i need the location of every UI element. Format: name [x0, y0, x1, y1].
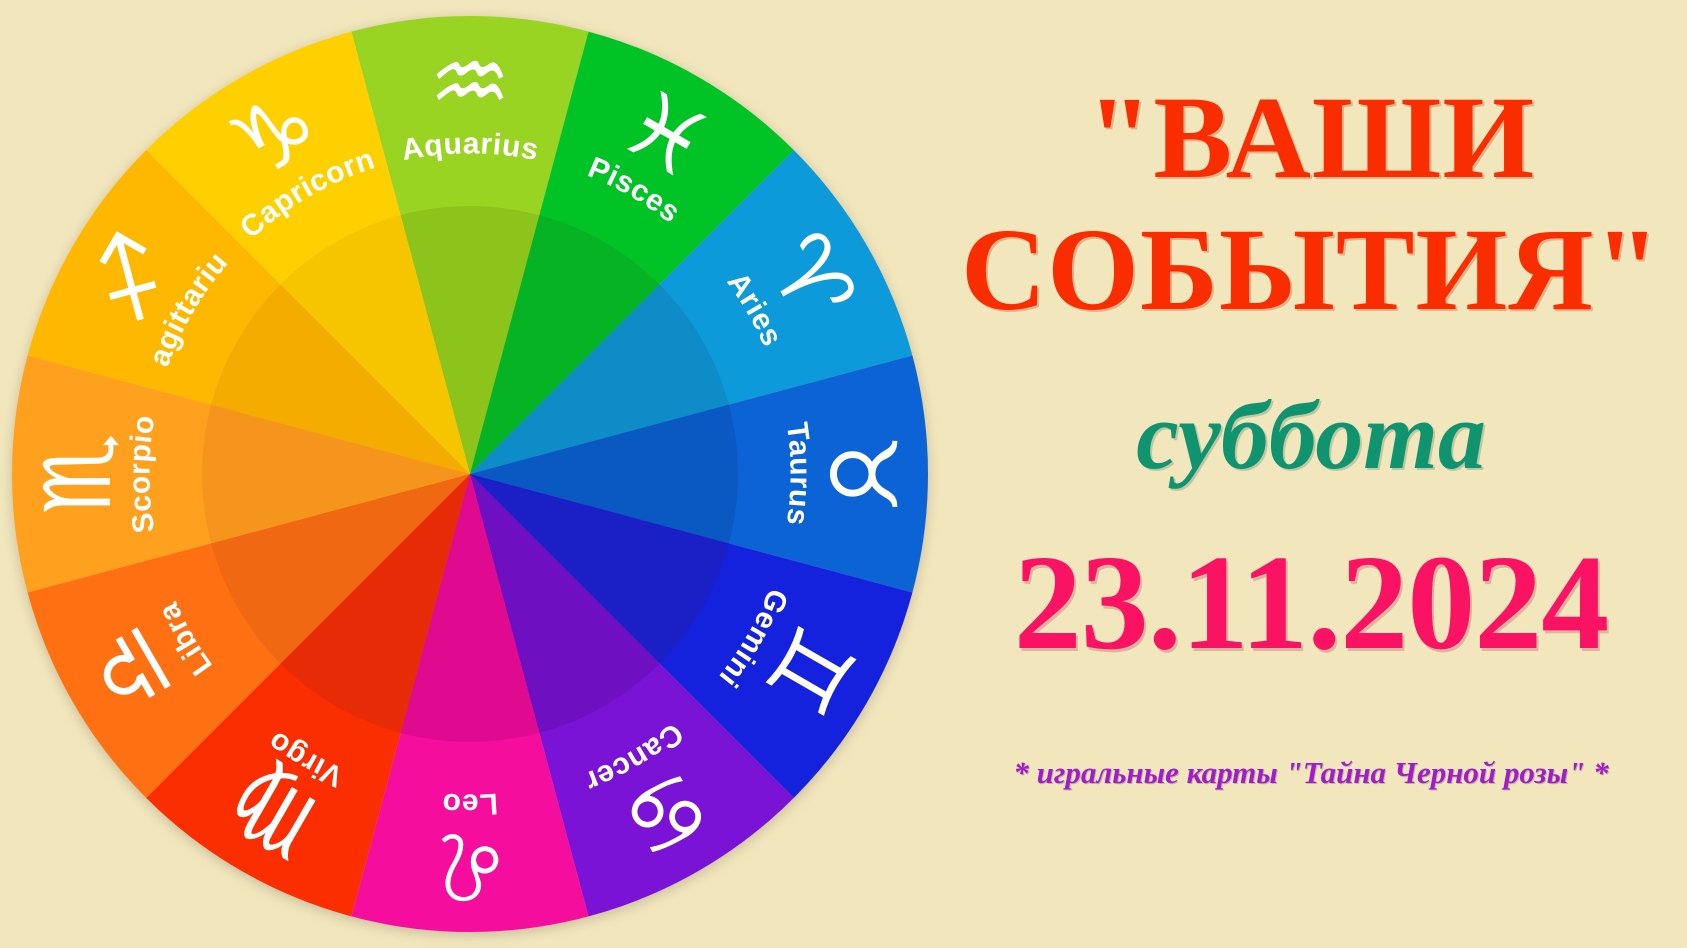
poster-canvas: AquariusPiscesAriesTaurusGeminiCancerLeo…: [0, 0, 1687, 948]
wheel-glyph-leo-icon: ♌: [429, 812, 511, 919]
wheel-glyph-taurus-icon: ♉: [808, 433, 915, 515]
footnote-text: * игральные карты "Тайна Черной розы" *: [935, 755, 1687, 791]
page-title-line-1: "ВАШИ: [935, 72, 1687, 204]
zodiac-wheel-svg[interactable]: AquariusPiscesAriesTaurusGeminiCancerLeo…: [8, 12, 932, 936]
page-title: "ВАШИ СОБЫТИЯ": [935, 72, 1687, 336]
weekday-label: суббота: [935, 380, 1687, 491]
wheel-glyph-scorpio-icon: ♏: [25, 433, 132, 515]
date-label: 23.11.2024: [935, 525, 1687, 681]
zodiac-wheel[interactable]: AquariusPiscesAriesTaurusGeminiCancerLeo…: [8, 12, 932, 936]
wheel-glyph-aquarius-icon: ♒: [429, 29, 511, 136]
wheel-inner-ring: [202, 206, 738, 742]
page-title-line-2: СОБЫТИЯ": [935, 204, 1687, 336]
text-column: "ВАШИ СОБЫТИЯ" суббота 23.11.2024 * игра…: [935, 0, 1687, 948]
